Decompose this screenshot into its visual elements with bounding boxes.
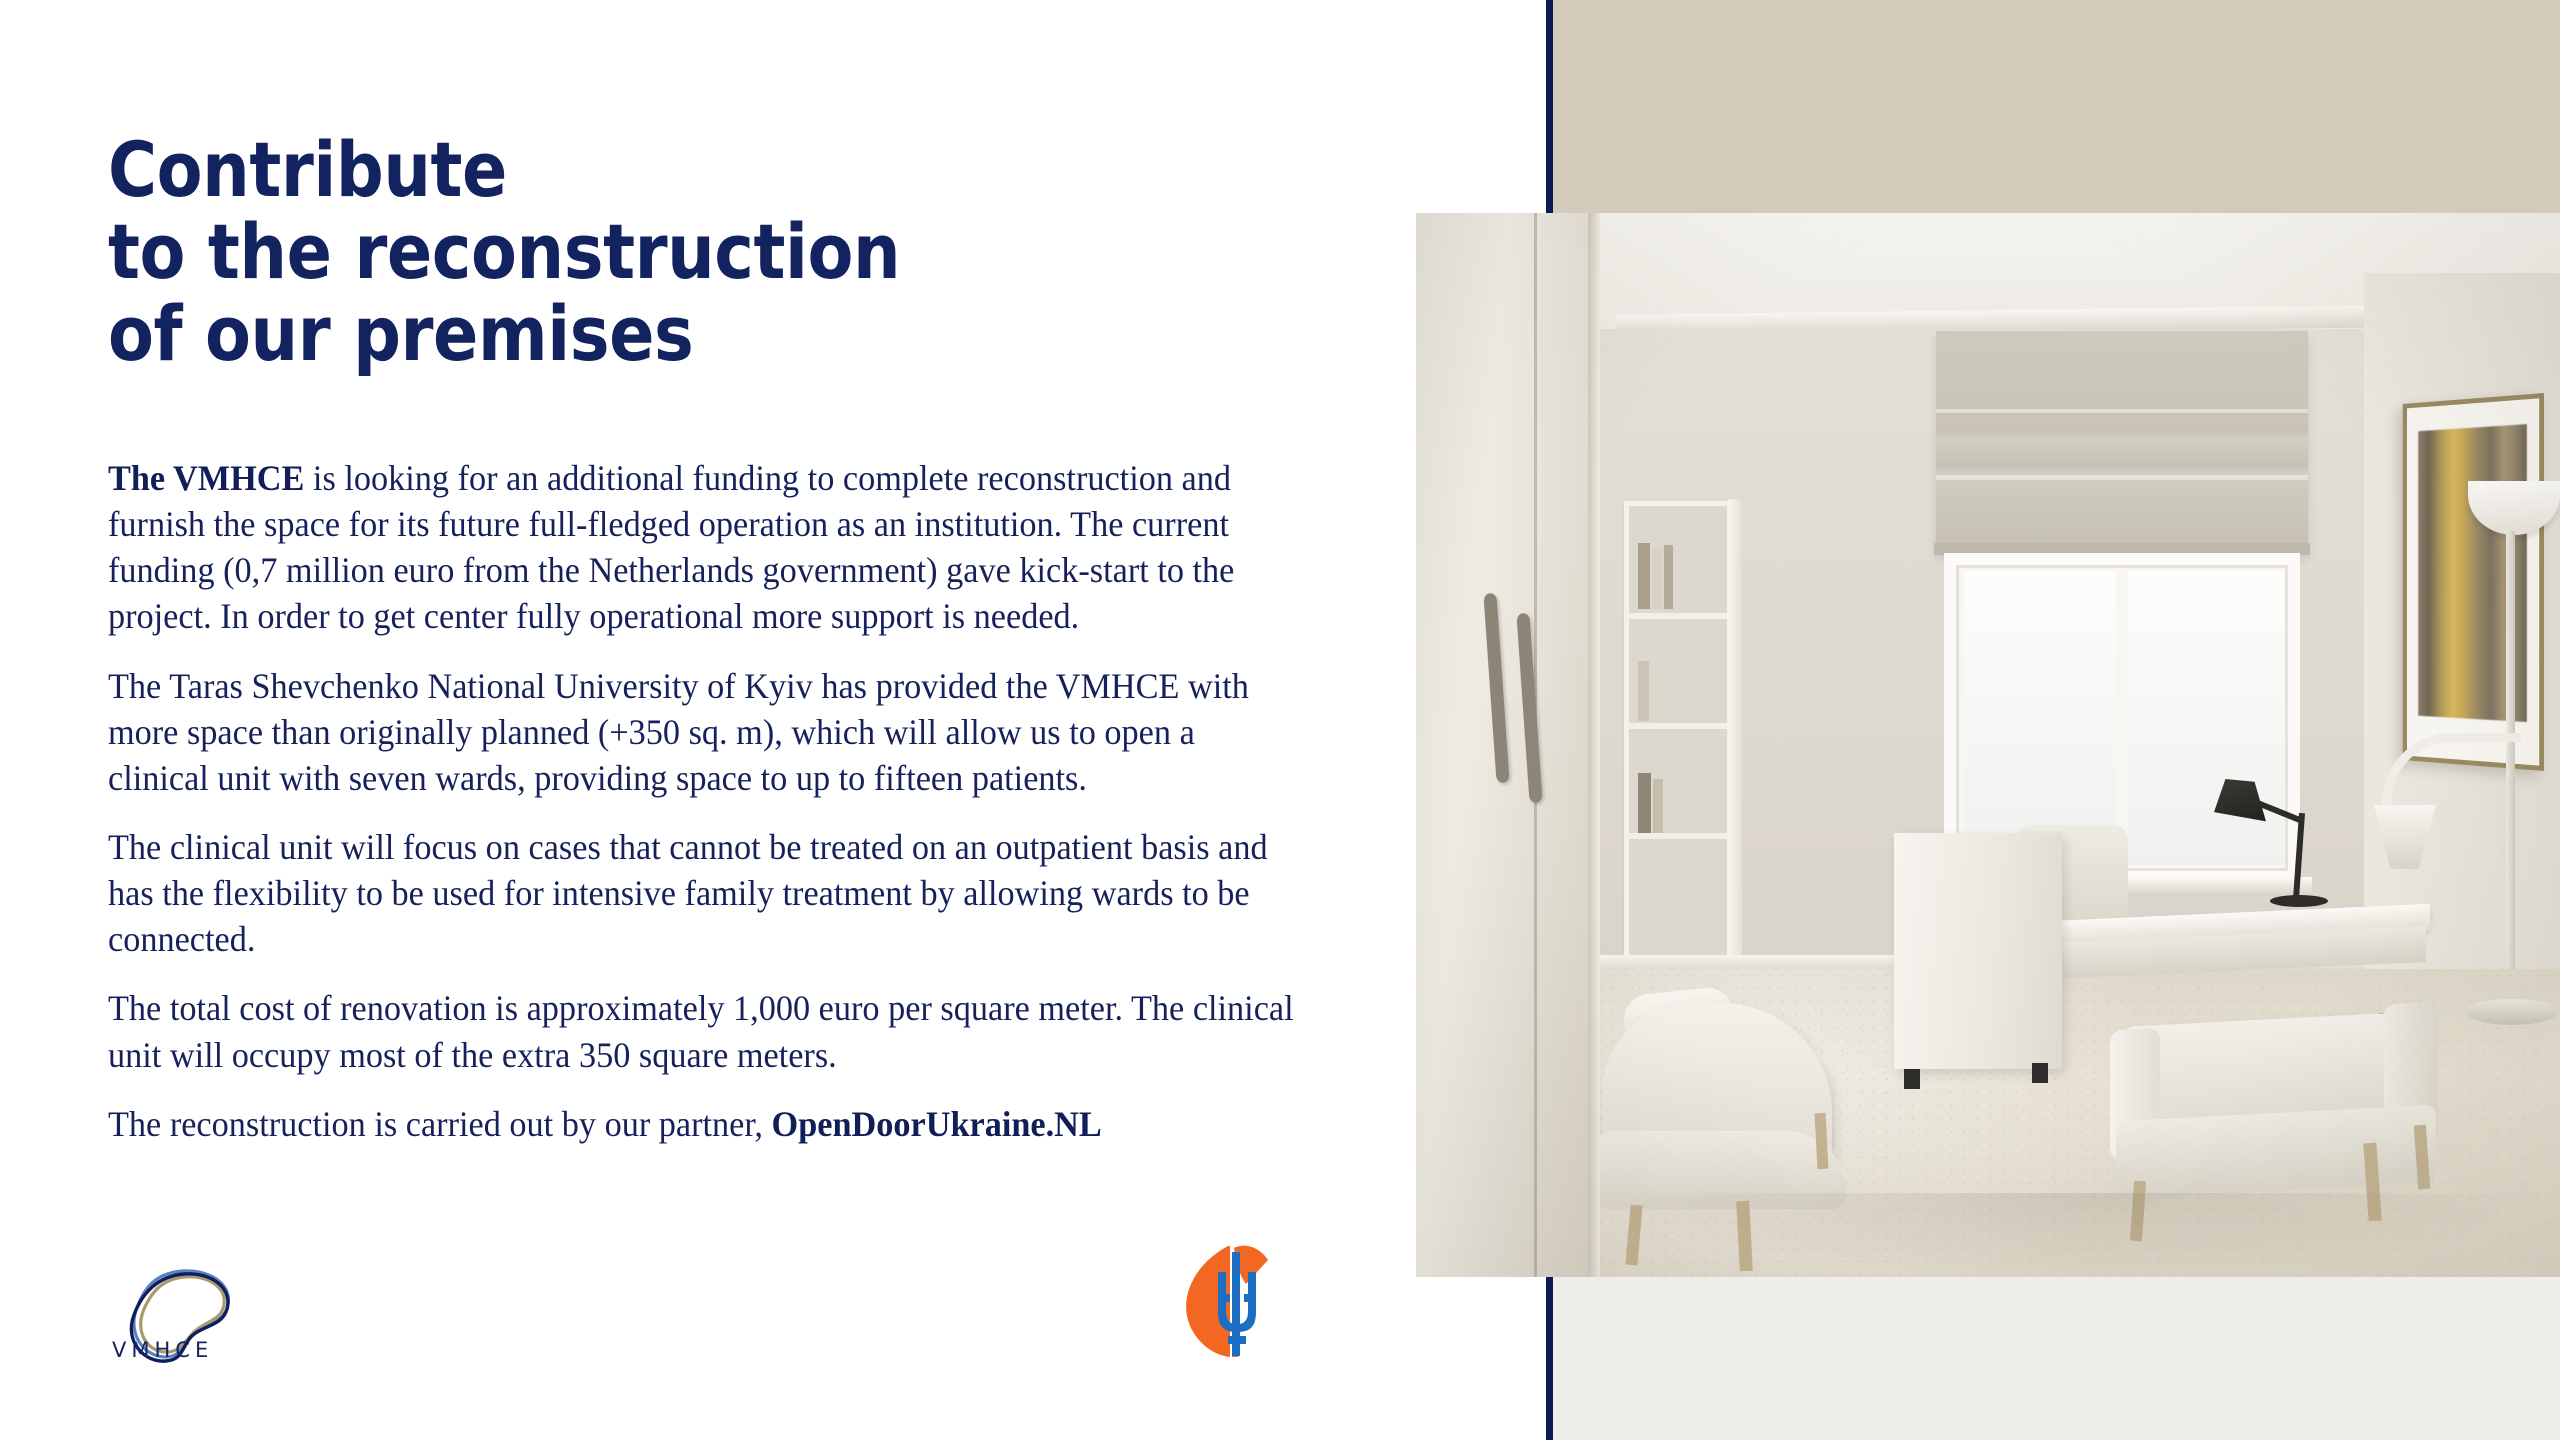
body-copy: The VMHCE is looking for an additional f…	[108, 455, 1338, 1147]
slide-root: Contribute to the reconstruction of our …	[0, 0, 2560, 1440]
left-content-column: Contribute to the reconstruction of our …	[0, 0, 1540, 1440]
paragraph-2-text: The Taras Shevchenko National University…	[108, 666, 1249, 798]
paragraph-3-text: The clinical unit will focus on cases th…	[108, 827, 1268, 959]
opendoorukraine-logo	[1172, 1238, 1292, 1363]
paragraph-3: The clinical unit will focus on cases th…	[108, 824, 1295, 962]
vmhce-logo-label: VMHCE	[112, 1338, 213, 1362]
room-photo	[1416, 213, 2560, 1277]
paragraph-5: The reconstruction is carried out by our…	[108, 1101, 1295, 1147]
paragraph-1-lead: The VMHCE	[108, 458, 304, 498]
right-panel-bottom-background	[1553, 1277, 2560, 1440]
photo-vignette	[1416, 213, 2560, 1277]
vmhce-logo	[108, 1253, 258, 1403]
partner-name: OpenDoorUkraine.NL	[772, 1104, 1102, 1144]
page-title: Contribute to the reconstruction of our …	[108, 129, 1146, 375]
paragraph-4-text: The total cost of renovation is approxim…	[108, 988, 1294, 1074]
paragraph-5-text: The reconstruction is carried out by our…	[108, 1104, 772, 1144]
paragraph-2: The Taras Shevchenko National University…	[108, 663, 1295, 801]
paragraph-4: The total cost of renovation is approxim…	[108, 985, 1295, 1077]
paragraph-1: The VMHCE is looking for an additional f…	[108, 455, 1295, 640]
